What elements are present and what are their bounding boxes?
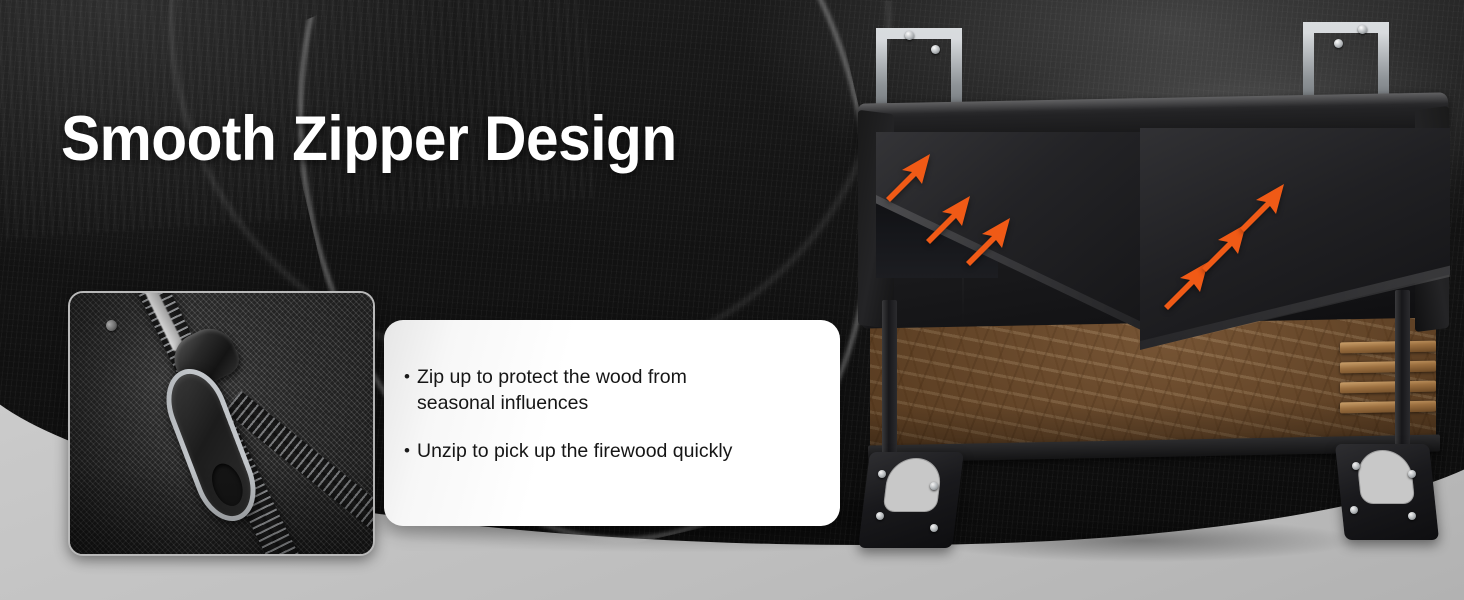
frame-leg-left: [882, 300, 897, 472]
frame-bolt: [905, 31, 914, 40]
foot-bolt: [1350, 506, 1358, 514]
foot-bolt: [876, 512, 884, 520]
firewood-rack-product: [840, 0, 1464, 600]
bullet-text: Unzip to pick up the firewood quickly: [417, 438, 732, 464]
split-plank: [1340, 361, 1436, 374]
foot-bolt: [1408, 512, 1416, 520]
frame-bolt: [1358, 25, 1367, 34]
split-plank: [1340, 401, 1436, 414]
zipper-photo-shade-bottom: [70, 464, 373, 554]
bullet-text: Zip up to protect the wood from seasonal…: [417, 364, 769, 416]
foot-bolt: [1408, 470, 1416, 478]
split-plank: [1340, 381, 1436, 394]
product-feature-banner: Smooth Zipper Design • Zip up to protect…: [0, 0, 1464, 600]
page-title: Smooth Zipper Design: [61, 108, 677, 171]
frame-bolt: [1334, 39, 1343, 48]
foot-bolt: [930, 524, 938, 532]
foot-bolt: [878, 470, 886, 478]
bullet-marker-icon: •: [404, 438, 417, 464]
frame-bolt: [931, 45, 940, 54]
product-ground-shadow: [830, 516, 1464, 586]
split-plank: [1340, 341, 1436, 354]
bullet-marker-icon: •: [404, 364, 417, 390]
feature-callout-panel: • Zip up to protect the wood from season…: [384, 320, 840, 526]
feature-bullet-list: • Zip up to protect the wood from season…: [404, 364, 824, 464]
list-item: • Zip up to protect the wood from season…: [404, 364, 824, 416]
foot-bolt: [1352, 462, 1360, 470]
foot-bolt: [930, 482, 938, 490]
list-item: • Unzip to pick up the firewood quickly: [404, 438, 824, 464]
zipper-detail-photo: [68, 291, 375, 556]
